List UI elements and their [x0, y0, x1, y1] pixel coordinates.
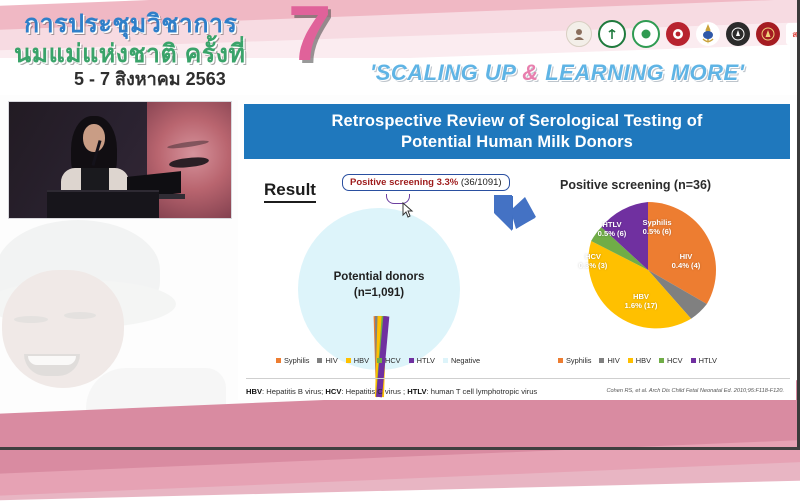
- legend-positive-screening: Syphilis HIV HBV HCV HTLV: [558, 356, 717, 365]
- citation-reference: Cohen RS, et al. Arch Dis Child Fetal Ne…: [606, 388, 790, 394]
- legend2-label-hcv: HCV: [667, 356, 683, 365]
- potential-donors-title: Potential donors: [298, 270, 460, 286]
- mouse-cursor-icon: [402, 202, 414, 218]
- legend-item-hbv: HBV: [346, 356, 369, 365]
- footnote-hbv-key: HBV: [246, 387, 262, 396]
- slice-label-htlv-value: 0.5% (6): [588, 229, 636, 238]
- legend-swatch-htlv: [409, 358, 414, 363]
- legend2-item-htlv: HTLV: [691, 356, 717, 365]
- legend-label-hcv: HCV: [385, 356, 401, 365]
- legend2-label-htlv: HTLV: [699, 356, 717, 365]
- legend-potential-donors: Syphilis HIV HBV HCV HTLV Negative: [276, 356, 480, 365]
- legend-item-hiv: HIV: [317, 356, 337, 365]
- logo-royal-crown-emblem: [696, 22, 720, 46]
- slide-title-line1: Retrospective Review of Serological Test…: [331, 111, 702, 132]
- legend-item-htlv: HTLV: [409, 356, 435, 365]
- abbreviation-key: HBV: Hepatitis B virus; HCV: Hepatitis C…: [246, 387, 537, 396]
- tagline-part2: LEARNING MORE': [539, 60, 745, 85]
- legend2-swatch-hcv: [659, 358, 664, 363]
- baby-eye-left: [14, 316, 48, 323]
- slide-title-bar: Retrospective Review of Serological Test…: [244, 104, 790, 159]
- legend2-swatch-hbv: [628, 358, 633, 363]
- speaker-video-feed[interactable]: [8, 101, 232, 219]
- legend2-item-hiv: HIV: [599, 356, 619, 365]
- logo-green-solid-institute: [632, 20, 660, 48]
- footnote-hbv-val: : Hepatitis B virus;: [262, 387, 325, 396]
- logo-red-crest-university: [666, 22, 690, 46]
- legend-swatch-negative: [443, 358, 448, 363]
- callout-fraction-text: (36/1091): [458, 177, 501, 188]
- slice-label-syphilis-value: 0.5% (6): [630, 227, 684, 236]
- legend2-swatch-syphilis: [558, 358, 563, 363]
- positive-screening-pie-title: Positive screening (n=36): [560, 178, 711, 192]
- baby-eye-right: [64, 312, 96, 319]
- legend2-item-hcv: HCV: [659, 356, 683, 365]
- logo-sss-foundation: สสส: [786, 23, 797, 45]
- legend-label-hiv: HIV: [325, 356, 337, 365]
- legend-swatch-syphilis: [276, 358, 281, 363]
- slice-label-hcv-value: 0.3% (3): [570, 261, 616, 270]
- callout-percent-text: Positive screening 3.3%: [350, 177, 458, 188]
- tagline-part1: 'SCALING UP: [370, 60, 522, 85]
- footnote-hcv-key: HCV: [325, 387, 341, 396]
- potential-donors-subtitle: (n=1,091): [298, 286, 460, 302]
- slice-label-hiv-value: 0.4% (4): [662, 261, 710, 270]
- slice-label-htlv: HTLV 0.5% (6): [588, 220, 636, 239]
- legend-swatch-hbv: [346, 358, 351, 363]
- presentation-screen: การประชุมวิชาการ นมแม่แห่งชาติ ครั้งที่ …: [0, 0, 800, 450]
- presentation-slide: Retrospective Review of Serological Test…: [238, 100, 796, 400]
- slide-title-line2: Potential Human Milk Donors: [401, 132, 633, 153]
- slice-label-hcv: HCV 0.3% (3): [570, 252, 616, 271]
- conference-header-banner: การประชุมวิชาการ นมแม่แห่งชาติ ครั้งที่ …: [0, 0, 797, 95]
- sponsor-logo-strip: สสส: [566, 20, 797, 48]
- legend2-item-syphilis: Syphilis: [558, 356, 591, 365]
- legend-item-negative: Negative: [443, 356, 480, 365]
- slice-label-syphilis: Syphilis 0.5% (6): [630, 218, 684, 237]
- footnote-htlv-key: HTLV: [407, 387, 426, 396]
- slice-label-hiv: HIV 0.4% (4): [662, 252, 710, 271]
- speaker-face: [83, 124, 105, 152]
- tagline-ampersand: &: [522, 60, 538, 85]
- legend2-label-hbv: HBV: [636, 356, 651, 365]
- slide-footnote: HBV: Hepatitis B virus; HCV: Hepatitis C…: [246, 378, 790, 400]
- footnote-htlv-val: : human T cell lymphotropic virus: [427, 387, 538, 396]
- logo-thai-royal-emblem: [566, 21, 592, 47]
- legend-label-hbv: HBV: [354, 356, 369, 365]
- legend-item-syphilis: Syphilis: [276, 356, 309, 365]
- footnote-hcv-val: : Hepatitis C virus ;: [341, 387, 407, 396]
- logo-green-ring-institute: [598, 20, 626, 48]
- result-heading: Result: [264, 180, 316, 203]
- slice-label-hbv-value: 1.6% (17): [616, 301, 666, 310]
- conference-tagline: 'SCALING UP & LEARNING MORE': [370, 60, 744, 86]
- legend-label-syphilis: Syphilis: [284, 356, 309, 365]
- legend2-swatch-hiv: [599, 358, 604, 363]
- legend2-label-hiv: HIV: [607, 356, 619, 365]
- conference-edition-number: 7: [288, 0, 331, 72]
- legend-swatch-hcv: [377, 358, 382, 363]
- legend-label-htlv: HTLV: [417, 356, 435, 365]
- potential-donors-label: Potential donors (n=1,091): [298, 270, 460, 301]
- baby-teeth: [28, 356, 76, 365]
- positive-screening-callout: Positive screening 3.3% (36/1091): [342, 174, 510, 191]
- logo-red-seal: [756, 22, 780, 46]
- conference-date-thai: 5 - 7 สิงหาคม 2563: [74, 64, 226, 93]
- legend-swatch-hiv: [317, 358, 322, 363]
- legend2-swatch-htlv: [691, 358, 696, 363]
- legend2-item-hbv: HBV: [628, 356, 651, 365]
- legend2-label-syphilis: Syphilis: [566, 356, 591, 365]
- podium: [47, 190, 159, 219]
- blue-arrow-icon: [491, 192, 539, 240]
- slice-label-hbv: HBV 1.6% (17): [616, 292, 666, 311]
- legend-item-hcv: HCV: [377, 356, 401, 365]
- logo-black-seal: [726, 22, 750, 46]
- legend-label-negative: Negative: [451, 356, 480, 365]
